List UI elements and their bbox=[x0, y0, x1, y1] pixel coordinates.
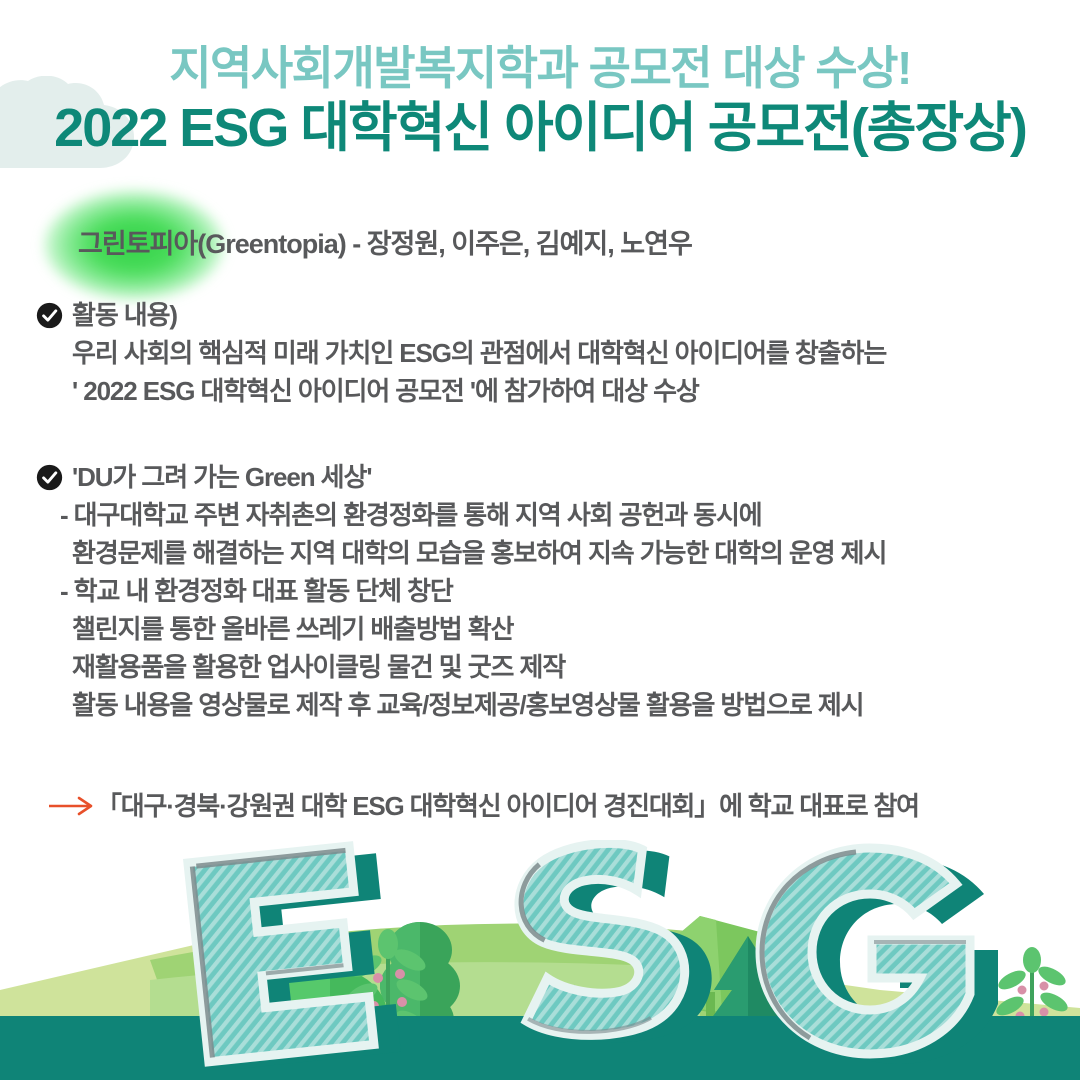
arrow-right-icon bbox=[48, 795, 96, 817]
letter-e bbox=[188, 843, 401, 1072]
team-members-label: 그린토피아(Greentopia) - 장정원, 이주은, 김예지, 노연우 bbox=[78, 222, 692, 261]
section-body-line: 우리 사회의 핵심적 미래 가치인 ESG의 관점에서 대학혁신 아이디어를 창… bbox=[0, 334, 1080, 372]
section-heading-text: 활동 내용) bbox=[72, 300, 177, 330]
section-heading: 'DU가 그려 가는 Green 세상' bbox=[0, 458, 1080, 496]
section-gap bbox=[0, 410, 1080, 458]
section-green-world: 'DU가 그려 가는 Green 세상' - 대구대학교 주변 자취촌의 환경정… bbox=[0, 458, 1080, 724]
check-circle-icon bbox=[36, 464, 63, 491]
section-body-line: 환경문제를 해결하는 지역 대학의 모습을 홍보하여 지속 가능한 대학의 운영… bbox=[0, 534, 1080, 572]
poster-canvas: 지역사회개발복지학과 공모전 대상 수상! 2022 ESG 대학혁신 아이디어… bbox=[0, 0, 1080, 1080]
section-heading-text: 'DU가 그려 가는 Green 세상' bbox=[72, 462, 371, 492]
section-body-line: - 학교 내 환경정화 대표 활동 단체 창단 bbox=[0, 572, 1080, 610]
section-body-line: 재활용품을 활용한 업사이클링 물건 및 굿즈 제작 bbox=[0, 648, 1080, 686]
section-body-line: 챌린지를 통한 올바른 쓰레기 배출방법 확산 bbox=[0, 610, 1080, 648]
section-body-line: - 대구대학교 주변 자취촌의 환경정화를 통해 지역 사회 공헌과 동시에 bbox=[0, 496, 1080, 534]
section-body-line: 활동 내용을 영상물로 제작 후 교육/정보제공/홍보영상물 활용을 방법으로 … bbox=[0, 686, 1080, 724]
section-heading: 활동 내용) bbox=[0, 296, 1080, 334]
result-text: 「대구·경북·강원권 대학 ESG 대학혁신 아이디어 경진대회」에 학교 대표… bbox=[96, 786, 919, 826]
title-block: 지역사회개발복지학과 공모전 대상 수상! 2022 ESG 대학혁신 아이디어… bbox=[0, 42, 1080, 161]
letter-g bbox=[760, 848, 998, 1064]
team-row: 그린토피아(Greentopia) - 장정원, 이주은, 김예지, 노연우 bbox=[78, 222, 692, 264]
section-body-line: ' 2022 ESG 대학혁신 아이디어 공모전 '에 참가하여 대상 수상 bbox=[0, 372, 1080, 410]
check-circle-icon bbox=[36, 302, 63, 329]
page-title-primary: 지역사회개발복지학과 공모전 대상 수상! bbox=[0, 42, 1080, 95]
page-title-secondary: 2022 ESG 대학혁신 아이디어 공모전(총장상) bbox=[0, 97, 1080, 161]
result-row: 「대구·경북·강원권 대학 ESG 대학혁신 아이디어 경진대회」에 학교 대표… bbox=[0, 786, 1080, 830]
body-block: 활동 내용) 우리 사회의 핵심적 미래 가치인 ESG의 관점에서 대학혁신 … bbox=[0, 296, 1080, 724]
esg-illustration bbox=[0, 840, 1080, 1080]
section-activity-content: 활동 내용) 우리 사회의 핵심적 미래 가치인 ESG의 관점에서 대학혁신 … bbox=[0, 296, 1080, 410]
